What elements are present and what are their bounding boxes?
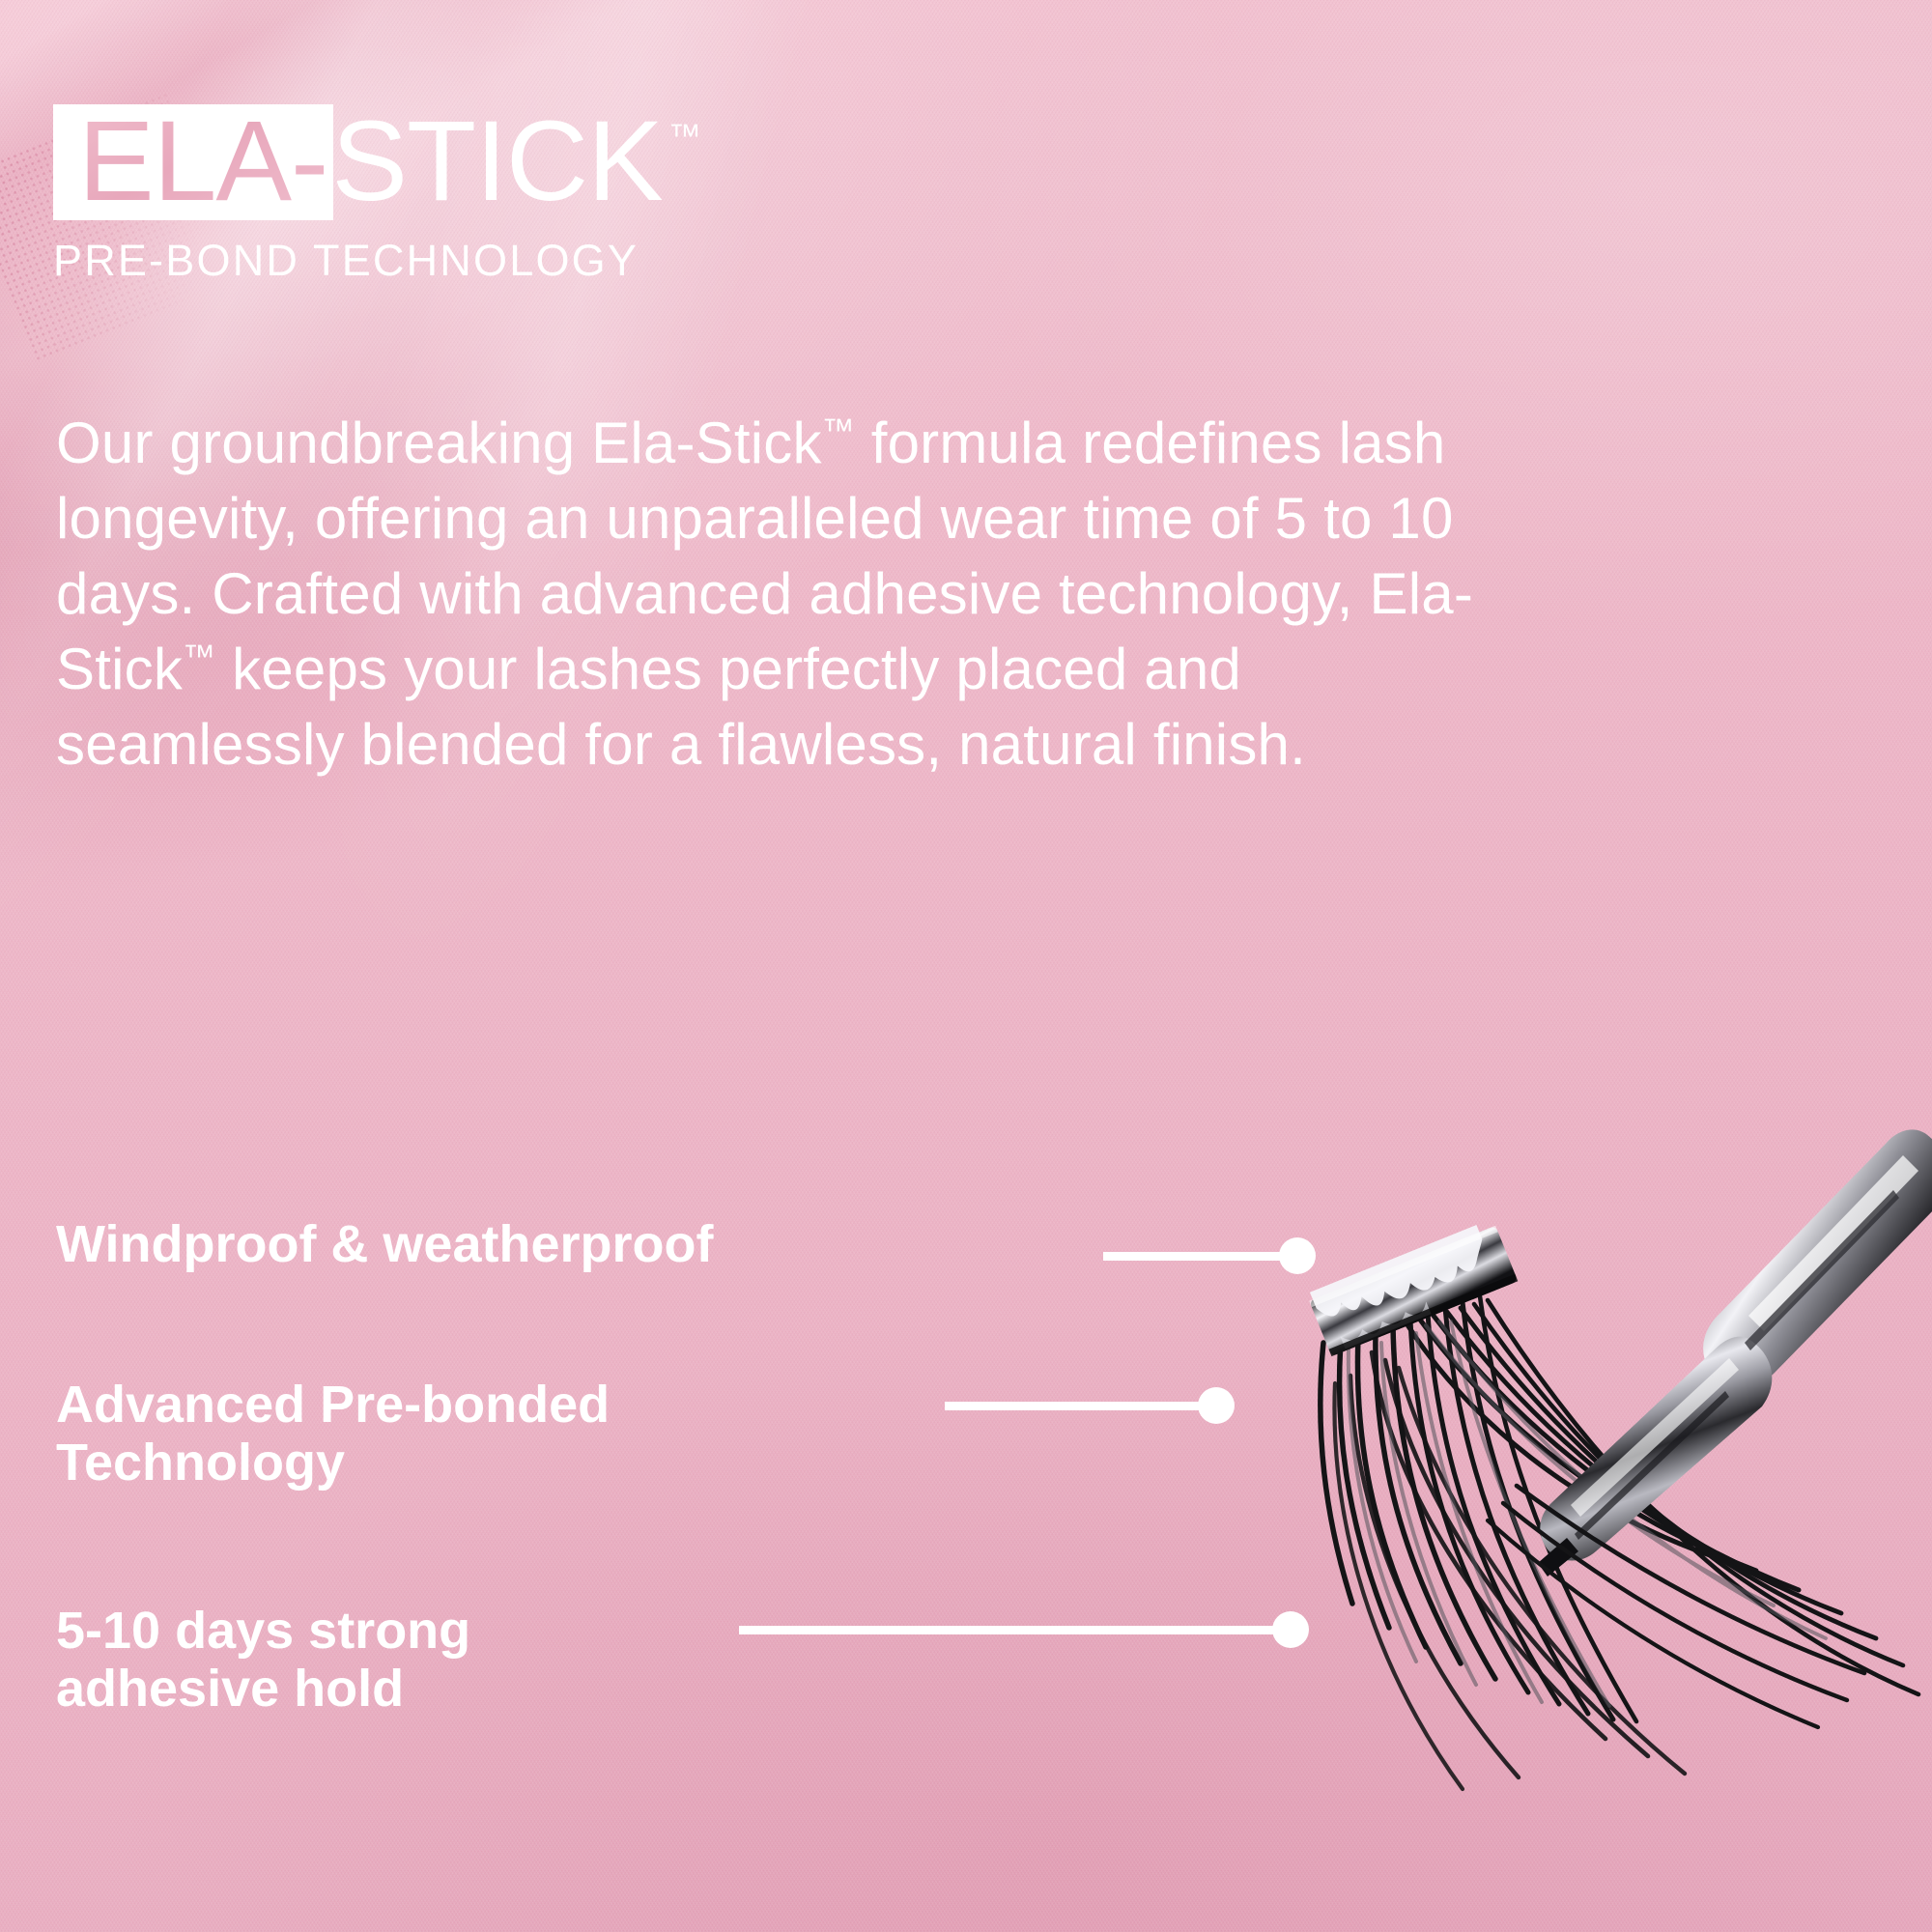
brand-tagline: PRE-BOND TECHNOLOGY: [53, 236, 701, 286]
feature-item-adhesive-hold: 5-10 days strong adhesive hold: [56, 1602, 470, 1719]
connector-line-3: [739, 1626, 1294, 1634]
description-paragraph: Our groundbreaking Ela-Stick™ formula re…: [56, 406, 1505, 782]
connector-dot-2: [1198, 1387, 1235, 1424]
trademark-symbol-inline: ™: [822, 412, 855, 449]
feature-label: 5-10 days strong adhesive hold: [56, 1602, 470, 1719]
logo-wordmark: ELA- STICK ™: [53, 104, 701, 220]
logo-boxed-text: ELA-: [78, 116, 327, 207]
feature-item-windproof: Windproof & weatherproof: [56, 1215, 713, 1273]
brand-logo: ELA- STICK ™ PRE-BOND TECHNOLOGY: [53, 104, 701, 286]
feature-label: Windproof & weatherproof: [56, 1215, 713, 1273]
feature-label: Advanced Pre-bonded Technology: [56, 1376, 610, 1492]
trademark-symbol-inline: ™: [183, 639, 215, 675]
promo-graphic: ELA- STICK ™ PRE-BOND TECHNOLOGY Our gro…: [0, 0, 1932, 1932]
logo-boxed-segment: ELA-: [53, 104, 333, 220]
logo-tail-text: STICK: [331, 104, 663, 207]
feature-item-pre-bonded: Advanced Pre-bonded Technology: [56, 1376, 610, 1492]
trademark-symbol: ™: [668, 120, 701, 153]
connector-dot-1: [1279, 1237, 1316, 1274]
connector-line-1: [1103, 1252, 1301, 1261]
connector-line-2: [945, 1402, 1221, 1410]
connector-dot-3: [1272, 1611, 1309, 1648]
